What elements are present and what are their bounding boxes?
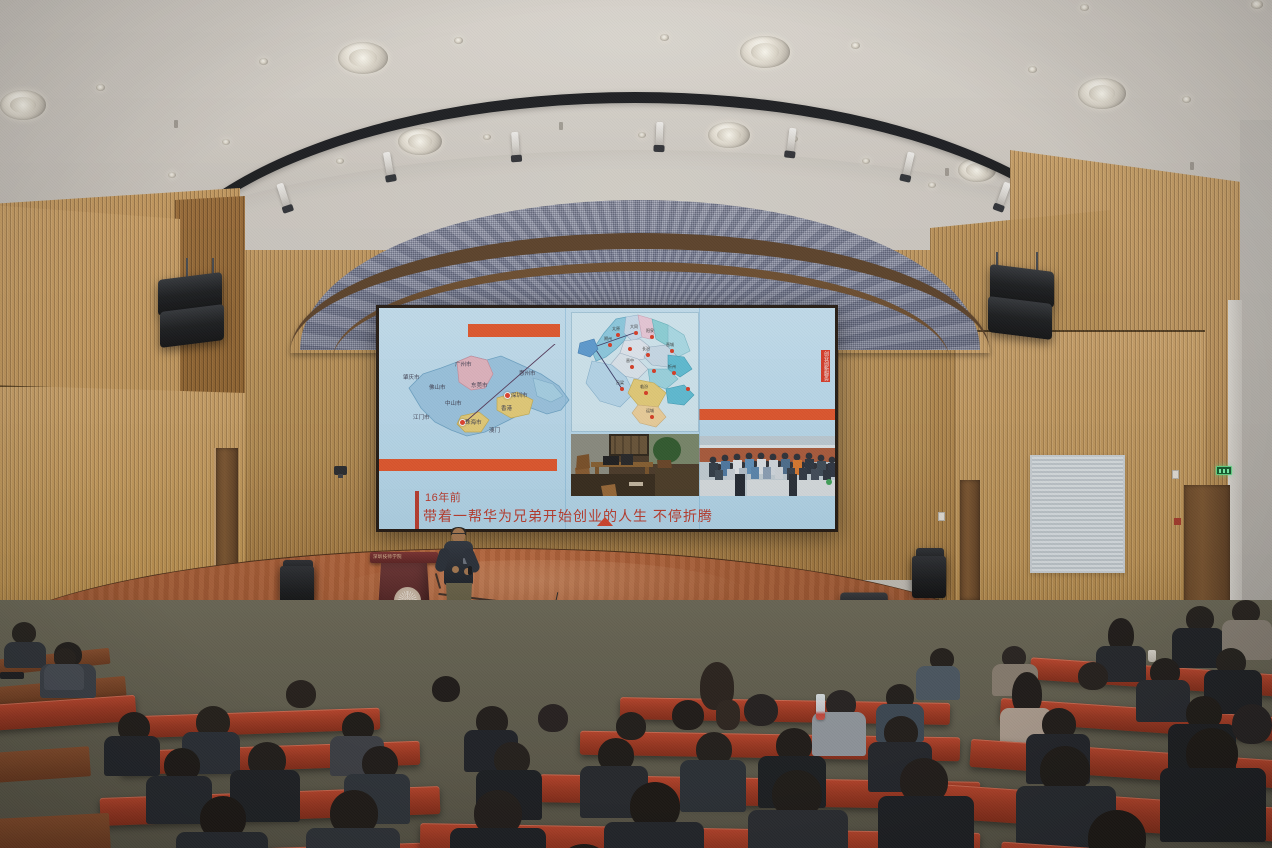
map-node-label: 临汾	[640, 384, 648, 390]
map-node-dot	[646, 353, 650, 357]
audience-body	[450, 828, 546, 848]
ceiling-downlight-large	[1078, 78, 1126, 109]
ceiling-downlight	[660, 34, 669, 41]
map-city-label: 江门市	[413, 413, 430, 421]
slide-triangle-logo	[597, 517, 613, 526]
ceiling-downlight	[222, 139, 230, 145]
slide-headline-small: 16年前	[425, 489, 461, 505]
handheld-microphone-icon	[468, 566, 472, 575]
map-node-label: 吕梁	[616, 380, 624, 386]
exit-sign	[1216, 466, 1232, 475]
map-node-dot	[628, 347, 632, 351]
guangdong-province-map: 肇庆市 广州市 惠州市 佛山市 东莞市 中山市 深圳市 江门市 珠海市 香港 澳…	[401, 344, 581, 454]
audience-body	[4, 642, 46, 668]
desk-row-wood	[0, 813, 111, 848]
audience-body	[104, 736, 160, 776]
audience-body	[176, 832, 268, 848]
glasses-icon	[452, 533, 465, 536]
line-array-speaker-right	[988, 296, 1052, 340]
audience-body	[680, 760, 746, 812]
screen-panel-seam	[699, 308, 700, 529]
desk-row-wood	[0, 746, 91, 784]
map-node-dot	[630, 365, 634, 369]
ceiling-downlight	[851, 42, 860, 49]
slide-watermark-logo: 创业创新服务	[821, 350, 830, 382]
audience-head	[12, 622, 36, 644]
projector-mount	[334, 466, 347, 475]
map-city-label: 深圳市	[511, 391, 528, 399]
audience-body	[748, 810, 848, 848]
audience-head	[616, 712, 646, 740]
floor-subwoofer-right	[912, 556, 946, 598]
ceiling-downlight	[1028, 66, 1037, 73]
map-city-label: 珠海市	[465, 418, 482, 426]
team-group-photo	[699, 436, 835, 496]
map-node-dot	[672, 371, 676, 375]
audience-body	[306, 828, 400, 848]
audience-body	[1136, 680, 1190, 722]
ceiling-downlight-large	[0, 90, 46, 120]
hvac-louver-vent	[1030, 455, 1125, 573]
auditorium-photo: 肇庆市 广州市 惠州市 佛山市 东莞市 中山市 深圳市 江门市 珠海市 香港 澳…	[0, 0, 1272, 848]
province-region-map: 太原 大同 阳泉 长治 晋城 朔州 晋中 运城 忻州 临汾 吕梁	[571, 312, 699, 432]
podium-label: 深圳技师学院	[373, 554, 402, 560]
presentation-slide: 肇庆市 广州市 惠州市 佛山市 东莞市 中山市 深圳市 江门市 珠海市 香港 澳…	[379, 308, 835, 529]
map-city-label: 惠州市	[519, 369, 536, 377]
audience-head	[1078, 662, 1108, 690]
wall-plate	[1172, 470, 1179, 479]
map-node-dot	[650, 335, 654, 339]
map-node-dot	[620, 387, 624, 391]
slide-orange-bar-top	[468, 324, 560, 337]
podium-desktop: 深圳技师学院	[370, 552, 438, 563]
map-node-label: 太原	[612, 326, 620, 332]
audience-seating-area	[0, 600, 1272, 848]
audience-head	[286, 680, 316, 708]
screen-panel-seam	[565, 308, 566, 529]
ceiling-downlight	[1251, 0, 1263, 9]
map-node-dot	[686, 387, 690, 391]
audience-head	[538, 704, 568, 732]
ceiling-downlight	[1182, 96, 1191, 103]
early-office-photo	[571, 434, 699, 496]
ceiling-sprinkler	[1190, 162, 1194, 170]
map-node-dot	[634, 331, 638, 335]
map-node-label: 运城	[646, 408, 654, 414]
map-city-label: 东莞市	[471, 381, 488, 389]
audience-head	[672, 700, 704, 730]
audience-body	[916, 666, 960, 700]
ceiling-sprinkler	[174, 120, 178, 128]
ceiling-downlight	[259, 58, 268, 65]
laptop	[0, 672, 24, 679]
map-node-label: 晋城	[666, 342, 674, 348]
led-screen-frame: 肇庆市 广州市 惠州市 佛山市 东莞市 中山市 深圳市 江门市 珠海市 香港 澳…	[376, 305, 838, 532]
audience-head	[1232, 704, 1272, 744]
map-node-label: 阳泉	[646, 328, 654, 334]
map-node-label: 朔州	[604, 336, 612, 342]
audience-head	[432, 676, 460, 702]
desk-row	[60, 841, 481, 848]
map-pin-shenzhen	[504, 392, 511, 399]
audience-body	[1160, 768, 1266, 842]
slide-headline-main: 带着一帮华为兄弟开始创业的人生 不停折腾	[423, 506, 713, 526]
map-node-label: 忻州	[668, 364, 676, 370]
map-city-label: 香港	[501, 404, 512, 412]
audience-body	[44, 664, 84, 690]
map-city-label: 中山市	[445, 399, 462, 407]
map-node-dot	[670, 349, 674, 353]
ceiling-downlight-large	[740, 36, 790, 68]
audience-head	[744, 694, 778, 726]
map-city-label: 肇庆市	[403, 373, 420, 381]
map-node-dot	[652, 369, 656, 373]
presenter-left-hand	[452, 566, 459, 573]
far-right-wall	[1240, 120, 1272, 640]
map-node-label: 长治	[642, 346, 650, 352]
slide-orange-bar-mid	[379, 459, 557, 471]
map-node-dot	[644, 391, 648, 395]
audience-body	[604, 822, 704, 848]
map-node-label: 大同	[630, 324, 638, 330]
map-city-label: 广州市	[455, 360, 472, 368]
ceiling-downlight-large	[338, 42, 388, 74]
ceiling-downlight	[1080, 4, 1089, 11]
map-city-label: 澳门	[489, 426, 500, 434]
audience-head	[716, 700, 740, 730]
map-node-dot	[608, 343, 612, 347]
side-door-left-recess	[960, 480, 980, 600]
audience-body	[878, 796, 974, 848]
track-spotlight	[656, 122, 664, 147]
fire-alarm-plate	[1174, 518, 1181, 525]
ceiling-downlight	[454, 37, 463, 44]
map-node-label: 晋中	[626, 358, 634, 364]
map-city-label: 佛山市	[429, 383, 446, 391]
map-node-dot	[616, 333, 620, 337]
wall-plate	[938, 512, 945, 521]
map-node-dot	[650, 415, 654, 419]
slide-accent-bar	[415, 491, 419, 529]
ceiling-downlight	[168, 172, 176, 178]
ceiling-downlight	[96, 84, 105, 91]
slide-orange-bar-right	[689, 409, 835, 420]
water-bottle	[816, 694, 825, 720]
